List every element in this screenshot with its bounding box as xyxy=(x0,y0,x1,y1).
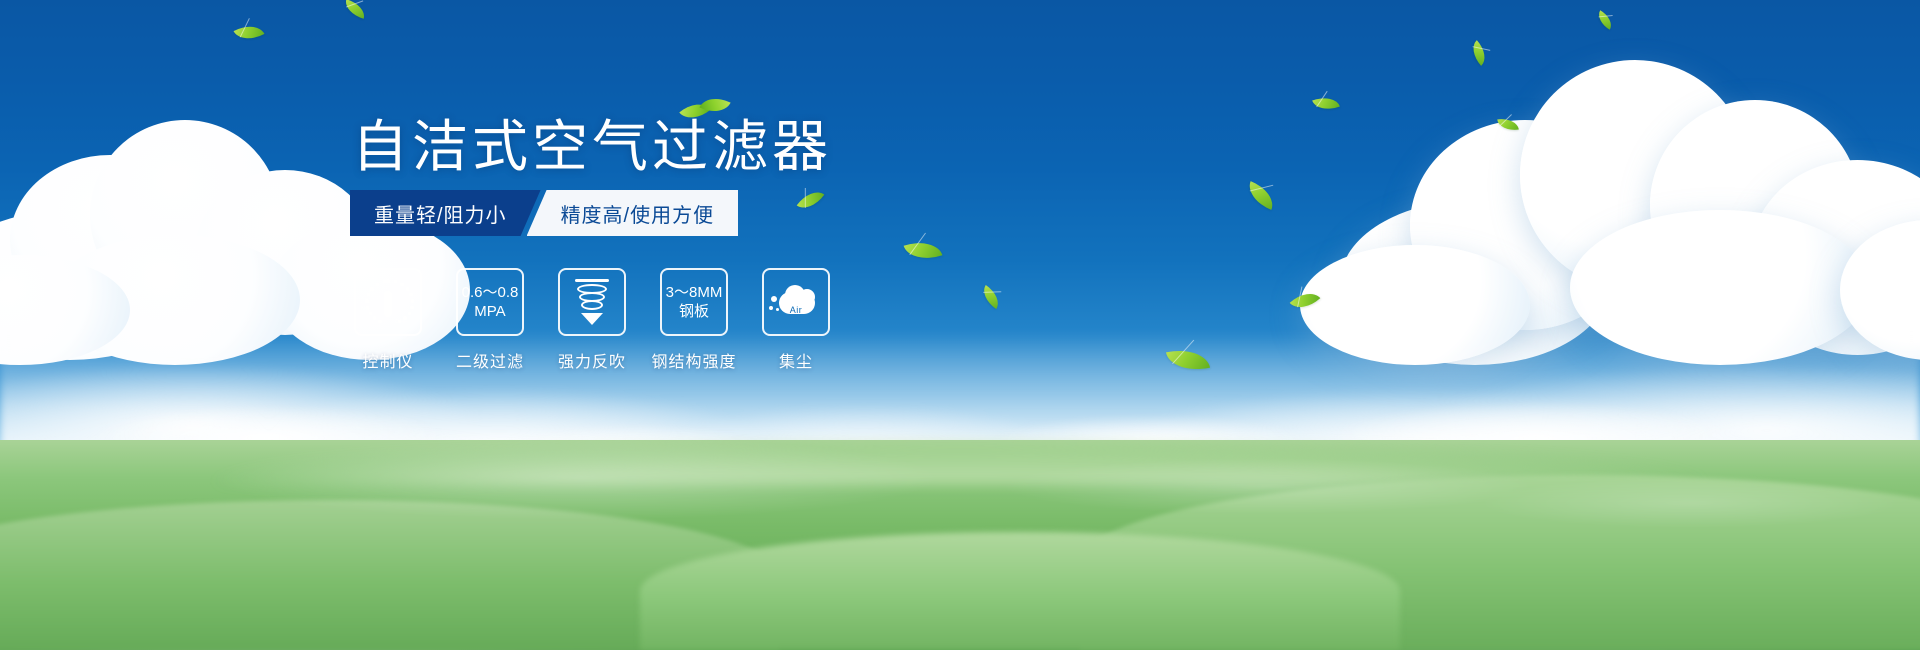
feature-icon-box xyxy=(558,268,626,336)
dial-mark-off: OFF xyxy=(395,319,407,325)
tag-pill-lightweight[interactable]: 重量轻/阻力小 xyxy=(350,190,541,236)
tag-pill-precision[interactable]: 精度高/使用方便 xyxy=(527,190,739,236)
banner-content: 自洁式空气过滤器 重量轻/阻力小 精度高/使用方便 xyxy=(0,0,1920,650)
feature-list: NO OFF 控制仪 0.6～0.8 MPA 二级过滤 xyxy=(350,268,834,372)
feature-item-dust[interactable]: Air 集尘 xyxy=(758,268,834,372)
air-cloud-icon: Air xyxy=(769,282,823,322)
feature-item-controller[interactable]: NO OFF 控制仪 xyxy=(350,268,426,372)
page-title: 自洁式空气过滤器 xyxy=(352,116,832,178)
hero-banner: 自洁式空气过滤器 重量轻/阻力小 精度高/使用方便 xyxy=(0,0,1920,650)
feature-label: 集尘 xyxy=(779,348,813,372)
dial-mark-on: NO xyxy=(361,306,370,312)
feature-label: 钢结构强度 xyxy=(652,348,737,372)
feature-icon-box: Air xyxy=(762,268,830,336)
feature-label: 二级过滤 xyxy=(456,348,524,372)
tag-list: 重量轻/阻力小 精度高/使用方便 xyxy=(350,190,738,236)
feature-icon-box: 0.6～0.8 MPA xyxy=(456,268,524,336)
filter-stack-icon xyxy=(569,277,615,327)
pressure-text-icon: 0.6～0.8 MPA xyxy=(462,283,519,321)
feature-icon-box: 3～8MM 钢板 xyxy=(660,268,728,336)
air-label: Air xyxy=(790,305,803,315)
feature-label: 强力反吹 xyxy=(558,348,626,372)
feature-icon-box: NO OFF xyxy=(354,268,422,336)
feature-item-pressure[interactable]: 0.6～0.8 MPA 二级过滤 xyxy=(452,268,528,372)
feature-item-steel[interactable]: 3～8MM 钢板 钢结构强度 xyxy=(656,268,732,372)
steel-plate-text-icon: 3～8MM 钢板 xyxy=(666,283,723,321)
gauge-dial-icon: NO OFF xyxy=(362,276,414,328)
feature-label: 控制仪 xyxy=(362,348,413,372)
feature-item-blowback[interactable]: 强力反吹 xyxy=(554,268,630,372)
